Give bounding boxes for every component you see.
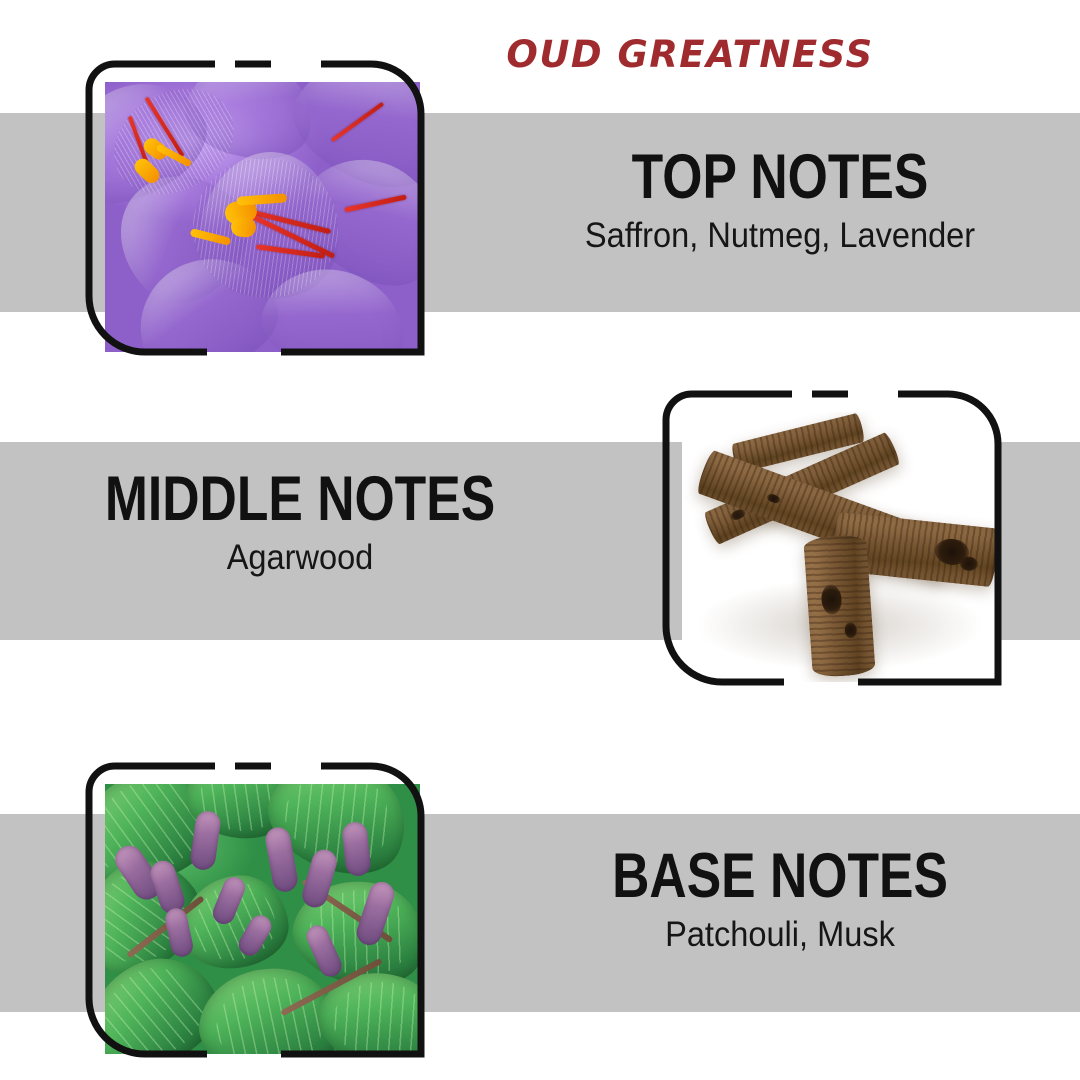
heading-top-notes: TOP NOTES — [550, 146, 1009, 209]
heading-base-notes: BASE NOTES — [550, 845, 1009, 908]
text-block-middle-notes: MIDDLE NOTES Agarwood — [20, 468, 580, 578]
text-block-base-notes: BASE NOTES Patchouli, Musk — [500, 845, 1060, 955]
image-card-top-notes — [85, 60, 425, 356]
decorative-frame-middle-notes — [662, 390, 1002, 686]
decorative-frame-top-notes — [85, 60, 425, 356]
subtitle-middle-notes: Agarwood — [40, 539, 561, 578]
page-title: OUD GREATNESS — [390, 33, 990, 76]
subtitle-base-notes: Patchouli, Musk — [520, 916, 1041, 955]
decorative-frame-base-notes — [85, 762, 425, 1058]
image-card-middle-notes — [662, 390, 1002, 686]
subtitle-top-notes: Saffron, Nutmeg, Lavender — [520, 217, 1041, 256]
infographic-canvas: OUD GREATNESS — [0, 0, 1080, 1080]
text-block-top-notes: TOP NOTES Saffron, Nutmeg, Lavender — [500, 146, 1060, 256]
image-card-base-notes — [85, 762, 425, 1058]
heading-middle-notes: MIDDLE NOTES — [70, 468, 529, 531]
